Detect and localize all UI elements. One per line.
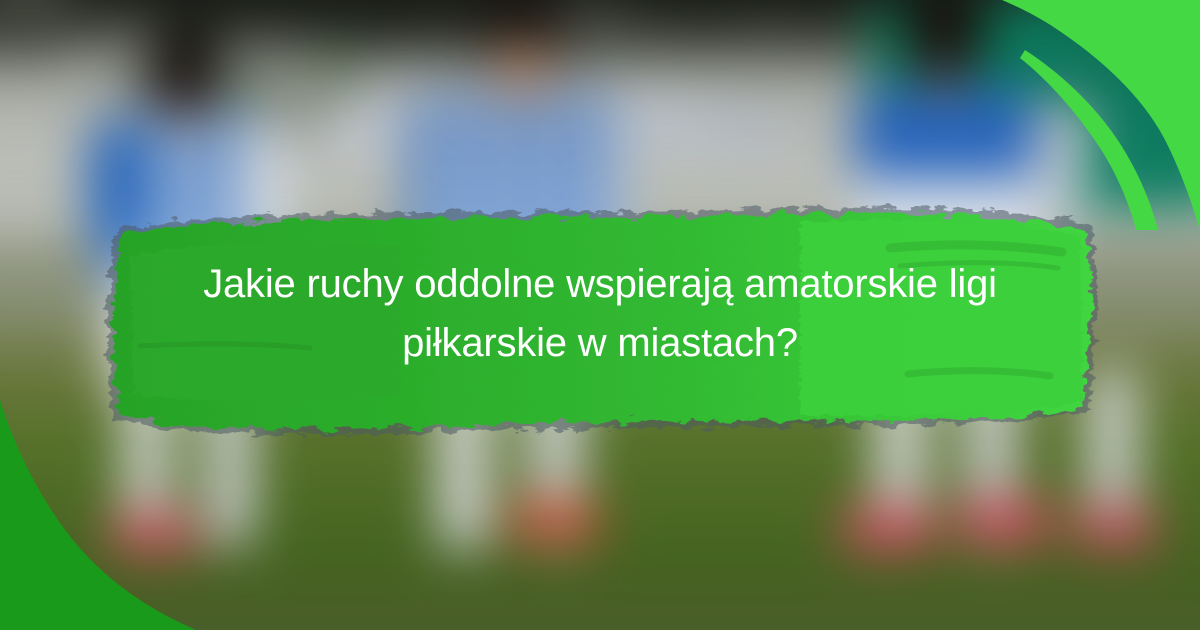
share-card: Jakie ruchy oddolne wspierają amatorskie… xyxy=(0,0,1200,630)
headline-line-2: piłkarskie w miastach? xyxy=(140,314,1060,373)
headline-line-1: Jakie ruchy oddolne wspierają amatorskie… xyxy=(140,255,1060,314)
headline: Jakie ruchy oddolne wspierają amatorskie… xyxy=(140,255,1060,373)
